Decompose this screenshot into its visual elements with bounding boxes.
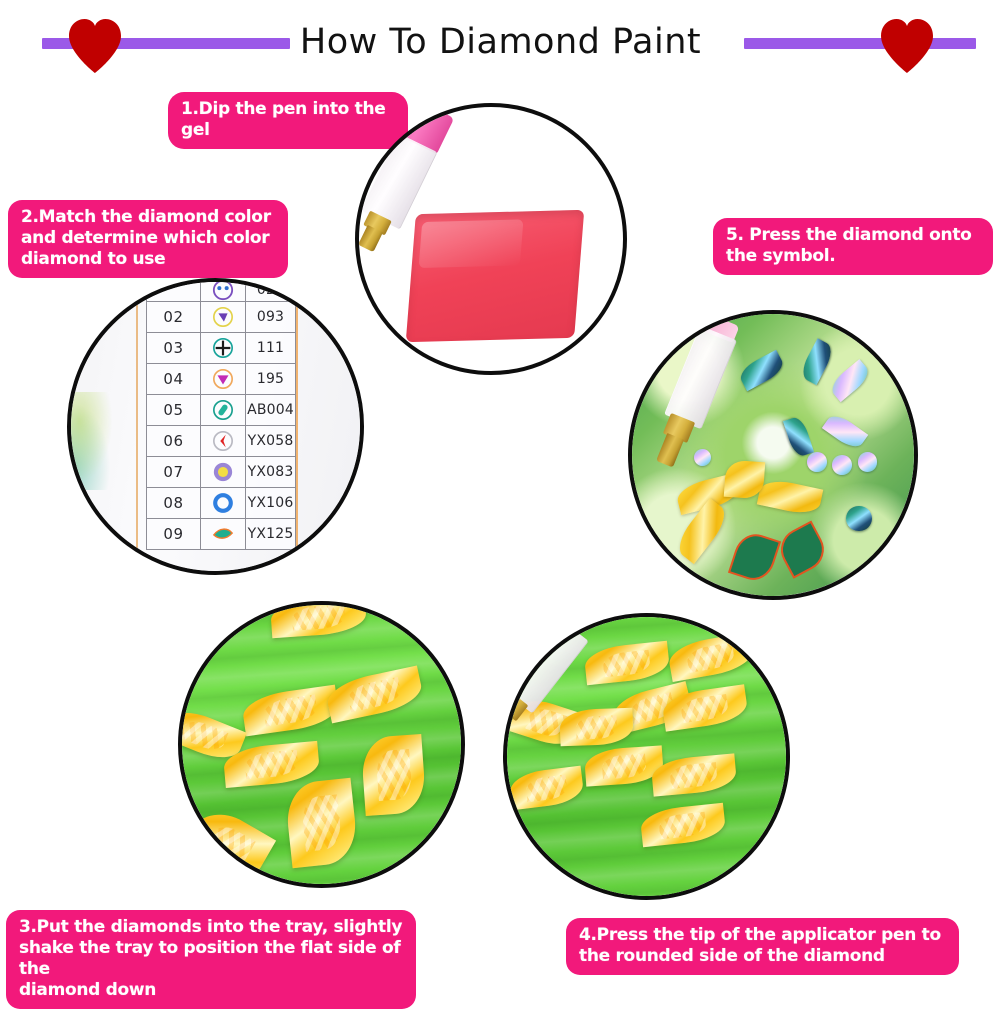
chart-canvas-speckle — [71, 392, 117, 490]
chart-cell-code: 111 — [245, 333, 296, 364]
step-4-label: 4.Press the tip of the applicator pen to… — [566, 918, 959, 975]
step-3-label: 3.Put the diamonds into the tray, slight… — [6, 910, 416, 1009]
ring-circle-icon — [200, 488, 245, 519]
chart-guide-line-left — [136, 282, 138, 571]
color-chart-table: 028 02 093 03 111 04 — [146, 282, 296, 550]
placed-gem-round — [807, 452, 827, 472]
placed-gem-round — [858, 452, 878, 472]
triangle-filled-circle-icon — [200, 302, 245, 333]
step-3-line-1: 3.Put the diamonds into the tray, slight… — [19, 917, 403, 938]
chart-cell-code: YX106 — [245, 488, 296, 519]
tray-photo-inner — [182, 605, 461, 884]
chart-cell-code: AB004 — [245, 395, 296, 426]
arrow-left-circle-icon — [200, 426, 245, 457]
table-row: 06 YX058 — [147, 426, 296, 457]
slash-oval-circle-icon — [200, 395, 245, 426]
leaf-shape-icon — [200, 519, 245, 550]
plus-circle-icon — [200, 333, 245, 364]
page-header: How To Diamond Paint — [0, 0, 1001, 80]
press-photo-inner — [632, 314, 914, 596]
step-3-line-3: diamond down — [19, 980, 403, 1001]
chart-cell-number: 06 — [147, 426, 201, 457]
gel-photo-inner — [359, 107, 623, 371]
step-4-line-2: the rounded side of the diamond — [579, 946, 946, 967]
chart-cell-number: 07 — [147, 457, 201, 488]
chart-cell-code: YX083 — [245, 457, 296, 488]
table-row: 05 AB004 — [147, 395, 296, 426]
placed-gem-round — [846, 506, 871, 531]
step-5-line-2: the symbol. — [726, 246, 980, 267]
step-5-label: 5. Press the diamond onto the symbol. — [713, 218, 993, 275]
photo-diamonds-in-tray — [178, 601, 465, 888]
chart-cell-code: YX058 — [245, 426, 296, 457]
placed-gem-round — [832, 455, 852, 475]
chart-cell-number: 08 — [147, 488, 201, 519]
chart-photo-inner: 028 02 093 03 111 04 — [71, 282, 360, 571]
step-1-line-1: 1.Dip the pen into the gel — [181, 99, 395, 141]
photo-pen-dipping-into-gel — [355, 103, 627, 375]
table-row: 04 195 — [147, 364, 296, 395]
chart-cell-code: 028 — [245, 282, 296, 302]
chart-cell-number: 09 — [147, 519, 201, 550]
dots-circle-icon — [200, 282, 245, 302]
step-5-line-1: 5. Press the diamond onto — [726, 225, 980, 246]
chart-cell-code: YX125 — [245, 519, 296, 550]
table-row: 07 YX083 — [147, 457, 296, 488]
photo-pen-picking-up-diamond — [503, 613, 790, 900]
step-3-line-2: shake the tray to position the flat side… — [19, 938, 403, 980]
chart-cell-number: 02 — [147, 302, 201, 333]
table-row: 09 YX125 — [147, 519, 296, 550]
chart-cell-code: 195 — [245, 364, 296, 395]
step-2-label: 2.Match the diamond color and determine … — [8, 200, 288, 278]
chart-cell-number — [147, 282, 201, 302]
table-row: 08 YX106 — [147, 488, 296, 519]
dot-filled-circle-icon — [200, 457, 245, 488]
step-2-line-2: and determine which color — [21, 228, 275, 249]
page-title: How To Diamond Paint — [0, 20, 1001, 64]
chart-cell-code: 093 — [245, 302, 296, 333]
photo-pressing-diamond-onto-canvas — [628, 310, 918, 600]
step-2-line-3: diamond to use — [21, 249, 275, 270]
triangle-magenta-circle-icon — [200, 364, 245, 395]
pen-tip — [656, 433, 684, 468]
chart-cell-number: 03 — [147, 333, 201, 364]
step-2-line-1: 2.Match the diamond color — [21, 207, 275, 228]
chart-cell-number: 05 — [147, 395, 201, 426]
photo-diamond-color-chart: 028 02 093 03 111 04 — [67, 278, 364, 575]
table-row: 03 111 — [147, 333, 296, 364]
table-row: 02 093 — [147, 302, 296, 333]
step-4-line-1: 4.Press the tip of the applicator pen to — [579, 925, 946, 946]
table-row: 028 — [147, 282, 296, 302]
pickup-photo-inner — [507, 617, 786, 896]
chart-cell-number: 04 — [147, 364, 201, 395]
